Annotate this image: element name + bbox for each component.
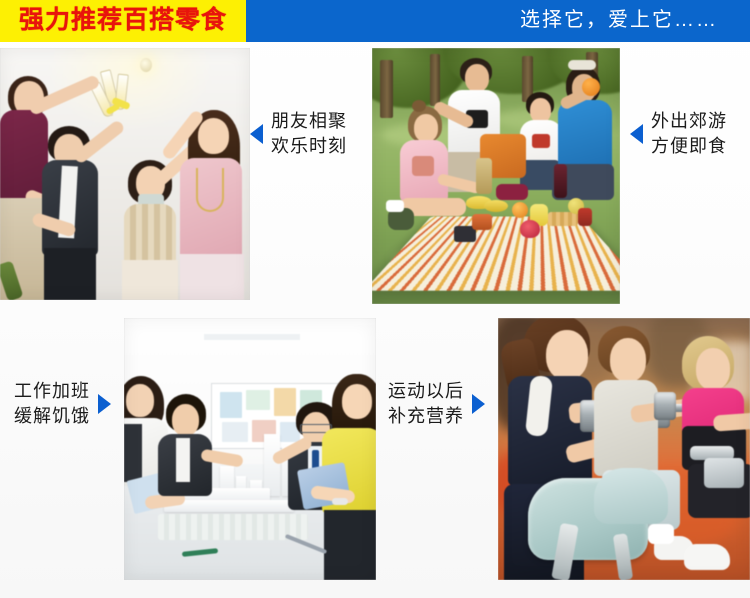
triangle-right-icon	[472, 394, 485, 414]
triangle-left-icon	[630, 124, 643, 144]
watch-decor	[332, 498, 348, 505]
jar-decor	[472, 214, 492, 230]
banana-decor	[484, 200, 508, 212]
grapes-decor	[496, 184, 528, 200]
caption-gym: 运动以后 补充营养	[388, 382, 485, 426]
caption-text-office: 工作加班 缓解饥饿	[14, 382, 90, 426]
bottle-decor	[554, 164, 567, 198]
header-title-block: 强力推荐百搭零食	[0, 0, 246, 42]
caption-text-picnic: 外出郊游 方便即食	[651, 112, 727, 156]
caption-text-friends: 朋友相聚 欢乐时刻	[271, 112, 347, 156]
caption-line-2: 缓解饥饿	[14, 407, 90, 426]
scene-friends-toasting	[0, 48, 250, 300]
photo-gym-workout	[498, 318, 750, 580]
scene-family-picnic	[372, 48, 620, 304]
caption-line-1: 工作加班	[14, 382, 90, 401]
machine-plate-decor	[704, 458, 744, 488]
promo-banner: 强力推荐百搭零食 选择它，爱上它……	[0, 0, 750, 598]
scene-gym-workout	[498, 318, 750, 580]
caption-picnic: 外出郊游 方便即食	[630, 112, 727, 156]
triangle-left-icon	[250, 124, 263, 144]
triangle-right-icon	[98, 394, 111, 414]
caption-line-1: 外出郊游	[651, 112, 727, 131]
fruit-decor	[520, 220, 540, 238]
caption-line-2: 方便即食	[651, 137, 727, 156]
scene-office-meeting	[124, 318, 376, 580]
caption-office: 工作加班 缓解饥饿	[14, 382, 111, 426]
caption-line-1: 朋友相聚	[271, 112, 347, 131]
orange-decor	[512, 202, 528, 218]
photo-friends-toasting	[0, 48, 250, 300]
sneaker-decor	[684, 544, 730, 570]
caption-text-gym: 运动以后 补充营养	[388, 382, 464, 426]
header-slogan-block: 选择它，爱上它……	[246, 0, 750, 42]
header-slogan: 选择它，爱上它……	[520, 10, 718, 30]
wall-lamp-decor	[140, 58, 152, 72]
caption-line-2: 补充营养	[388, 407, 464, 426]
jar-decor	[578, 208, 592, 226]
dumbbell-icon	[654, 392, 676, 420]
caption-line-1: 运动以后	[388, 382, 464, 401]
photo-family-picnic	[372, 48, 620, 304]
bottle-decor	[476, 158, 492, 194]
sock-decor	[648, 524, 674, 544]
photo-office-meeting	[124, 318, 376, 580]
header-bar: 强力推荐百搭零食 选择它，爱上它……	[0, 0, 750, 42]
page-title: 强力推荐百搭零食	[19, 8, 227, 33]
caption-friends: 朋友相聚 欢乐时刻	[250, 112, 347, 156]
caption-line-2: 欢乐时刻	[271, 137, 347, 156]
snack-sticks-decor	[548, 212, 578, 226]
